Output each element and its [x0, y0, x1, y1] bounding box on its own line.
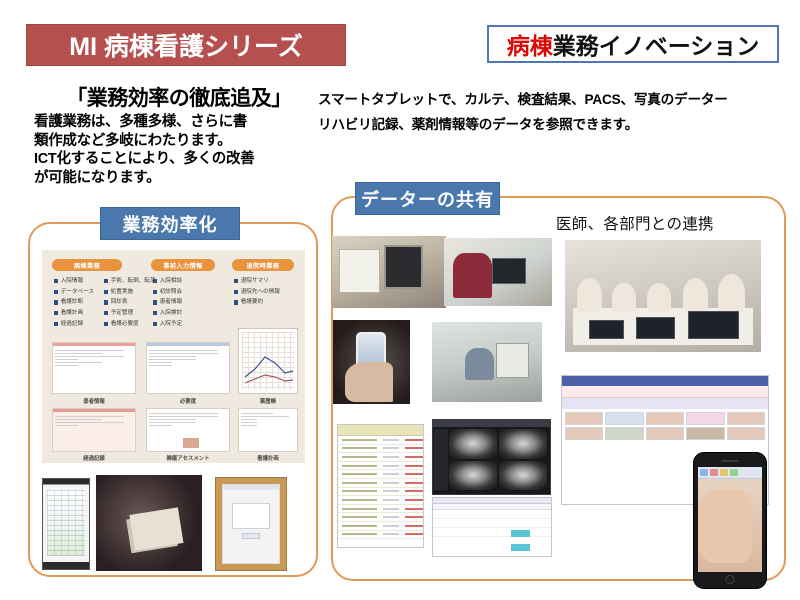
- left-description-line-1: 看護業務は、多種多様、さらに書: [34, 113, 319, 132]
- tablet-button: [242, 533, 260, 539]
- list-item: 退院サマリ: [234, 276, 280, 287]
- thumbnail-pressure-ulcer-assessment: [146, 408, 230, 452]
- left-description-line-3: ICT化することにより、多くの改善: [34, 150, 319, 169]
- gallery-thumbnail: [686, 427, 724, 440]
- thumbnail-nursing-plan: [238, 408, 298, 452]
- thumbnail-caption: 必要度: [146, 397, 230, 405]
- list-item: 入院検討: [153, 308, 182, 319]
- left-description-line-2: 類作成など多岐にわたります。: [34, 132, 319, 151]
- emr-patient-bar: [562, 386, 768, 398]
- photo-tablet-in-frame: [215, 477, 287, 571]
- attendee: [577, 278, 602, 312]
- table-row: [338, 445, 423, 454]
- thumbnail-titlebar: [147, 343, 229, 346]
- photo-staff-at-ward-desk: [432, 322, 542, 402]
- slide-title: MI 病棟看護シリーズ: [26, 24, 346, 66]
- wound-photo-preview: [698, 489, 752, 563]
- thumbnail-caption: 経過記録: [52, 454, 136, 462]
- workflow-list-ward-left: 入院情報 データベース 看護診断 看護計画 経過記録: [54, 276, 94, 329]
- attendee: [647, 283, 671, 312]
- table-row: [433, 528, 551, 537]
- thumbnail-titlebar: [53, 409, 135, 412]
- table-row: [338, 462, 423, 471]
- wound-photo-icon: [183, 438, 199, 448]
- table-row: [338, 513, 423, 522]
- tablet-screen: [222, 484, 280, 564]
- pacs-series-panel: [434, 429, 448, 490]
- workflow-list-ward-right: 手術、転倒、転落 処置実施 回診表 予定管理 看護必要度: [104, 276, 155, 329]
- pacs-toolbar: [433, 420, 550, 427]
- thumbnail-body: [53, 412, 135, 430]
- workflow-list-discharge: 退院サマリ 退院先への情報 看護要約: [234, 276, 280, 308]
- list-item: 回診表: [104, 297, 155, 308]
- thumbnail-body: [147, 409, 229, 430]
- tablet-dialog: [232, 503, 270, 530]
- attendee: [683, 278, 708, 312]
- list-item: 入院予定: [153, 319, 182, 330]
- gallery-thumbnail: [605, 412, 643, 425]
- list-item: 退院先への情報: [234, 287, 280, 298]
- workflow-board: 病棟業務 事前入力情報 退院時業務 入院情報 データベース 看護診断 看護計画 …: [42, 250, 305, 463]
- list-item: 看護計画: [54, 308, 94, 319]
- attendee: [718, 274, 745, 312]
- phone-app-bar: [698, 467, 762, 479]
- laptop: [636, 317, 675, 338]
- innovation-badge-emphasis: 病棟: [507, 27, 553, 61]
- mri-slice-image: [499, 461, 547, 491]
- left-description: 看護業務は、多種多様、さらに書 類作成など多岐にわたります。 ICT化することに…: [34, 113, 319, 187]
- photo-nurse-reading-document: [96, 475, 202, 571]
- right-description-line-2: リハビリ記録、薬剤情報等のデータを参照できます。: [318, 115, 796, 134]
- photo-radiology-workstation: [332, 236, 446, 308]
- list-item: 患者情報: [153, 297, 182, 308]
- table-row: [338, 436, 423, 445]
- list-item: 経過記録: [54, 319, 94, 330]
- list-item: 初診照会: [153, 287, 182, 298]
- mri-slice-image: [449, 461, 497, 491]
- gallery-thumbnail: [605, 427, 643, 440]
- left-description-line-4: が可能になります。: [34, 169, 319, 188]
- workflow-column-header-preadmission: 事前入力情報: [151, 259, 215, 271]
- screen-pacs-mri-viewer: [432, 419, 551, 495]
- subtitle-quote: 「業務効率の徹底追及」: [34, 82, 324, 112]
- phone-speaker: [721, 460, 739, 462]
- thumbnail-acuity: [146, 342, 230, 394]
- thumbnail-progress-note: [52, 408, 136, 452]
- thumbnail-titlebar: [53, 343, 135, 346]
- list-item: 処置実施: [104, 287, 155, 298]
- thumbnail-caption: 患者情報: [52, 397, 136, 405]
- thumbnail-body: [239, 409, 297, 430]
- emr-thumbnail-grid: [562, 409, 768, 443]
- status-badge: [511, 530, 530, 537]
- workflow-column-header-ward: 病棟業務: [52, 259, 122, 271]
- thumbnail-medication-chart: [238, 328, 298, 394]
- table-row: [338, 505, 423, 514]
- gallery-thumbnail: [686, 412, 724, 425]
- photo-conference-room-laptops: [565, 240, 761, 352]
- app-icon: [730, 469, 738, 476]
- gallery-thumbnail: [565, 427, 603, 440]
- laptop: [589, 320, 624, 339]
- table-row: [433, 519, 551, 528]
- list-item: 入院情報: [54, 276, 94, 287]
- list-item: 看護必要度: [104, 319, 155, 330]
- table-row: [338, 470, 423, 479]
- list-item: 看護診断: [54, 297, 94, 308]
- vitals-graph-icon: [47, 490, 85, 557]
- screen-lab-results: [337, 424, 424, 548]
- emr-titlebar: [562, 376, 768, 386]
- mri-slice-image: [449, 429, 497, 459]
- section-tag-sharing: データーの共有: [355, 182, 500, 215]
- table-row: [338, 488, 423, 497]
- thumbnail-caption: 薬歴帳: [238, 397, 298, 405]
- list-item: データベース: [54, 287, 94, 298]
- gallery-thumbnail: [727, 427, 765, 440]
- innovation-badge: 病棟業務イノベーション: [487, 25, 779, 63]
- emr-tab-bar: [562, 398, 768, 410]
- list-item: 入院相談: [153, 276, 182, 287]
- photo-tablet-vitals-graph: [42, 478, 90, 570]
- phone-home-button: [726, 575, 735, 584]
- table-row: [338, 522, 423, 531]
- gallery-thumbnail: [565, 412, 603, 425]
- app-icon: [720, 469, 728, 476]
- thumbnail-caption: 褥瘡アセスメント: [146, 454, 230, 462]
- table-row: [433, 510, 551, 519]
- thumbnail-patient-info: [52, 342, 136, 394]
- status-badge: [511, 544, 530, 551]
- smartphone-mockup: [693, 452, 767, 589]
- table-row: [338, 531, 423, 540]
- section-tag-efficiency: 業務効率化: [100, 207, 240, 240]
- tablet-titlebar: [223, 485, 279, 490]
- app-icon: [710, 469, 718, 476]
- list-item: 看護要約: [234, 297, 280, 308]
- table-row: [338, 479, 423, 488]
- thumbnail-body: [53, 346, 135, 370]
- lab-table-header: [338, 425, 423, 436]
- collaboration-label: 医師、各部門との連携: [556, 212, 714, 234]
- pacs-image-grid: [449, 429, 546, 490]
- list-item: 予定管理: [104, 308, 155, 319]
- trend-line-icon: [239, 329, 299, 395]
- app-icon: [700, 469, 708, 476]
- workflow-list-preadmission: 入院相談 初診照会 患者情報 入院検討 入院予定: [153, 276, 182, 329]
- right-description: スマートタブレットで、カルテ、検査結果、PACS、写真のデーター リハビリ記録、…: [318, 90, 796, 141]
- gallery-thumbnail: [646, 427, 684, 440]
- photo-hand-holding-smartphone: [333, 320, 410, 404]
- screen-rehabilitation-record: [432, 497, 552, 557]
- gallery-thumbnail: [727, 412, 765, 425]
- laptop: [688, 311, 739, 339]
- thumbnail-body: [147, 346, 229, 370]
- table-row: [338, 453, 423, 462]
- right-description-line-1: スマートタブレットで、カルテ、検査結果、PACS、写真のデーター: [318, 90, 796, 109]
- table-row: [338, 496, 423, 505]
- thumbnail-caption: 看護計画: [238, 454, 298, 462]
- workflow-column-header-discharge: 退院時業務: [232, 259, 294, 271]
- attendee: [612, 283, 636, 312]
- phone-screen: [698, 467, 762, 572]
- innovation-badge-rest: 業務イノベーション: [553, 27, 760, 61]
- list-item: 手術、転倒、転落: [104, 276, 155, 287]
- photo-nurse-with-mobile-cart: [444, 238, 552, 306]
- gallery-thumbnail: [646, 412, 684, 425]
- mri-slice-image: [499, 429, 547, 459]
